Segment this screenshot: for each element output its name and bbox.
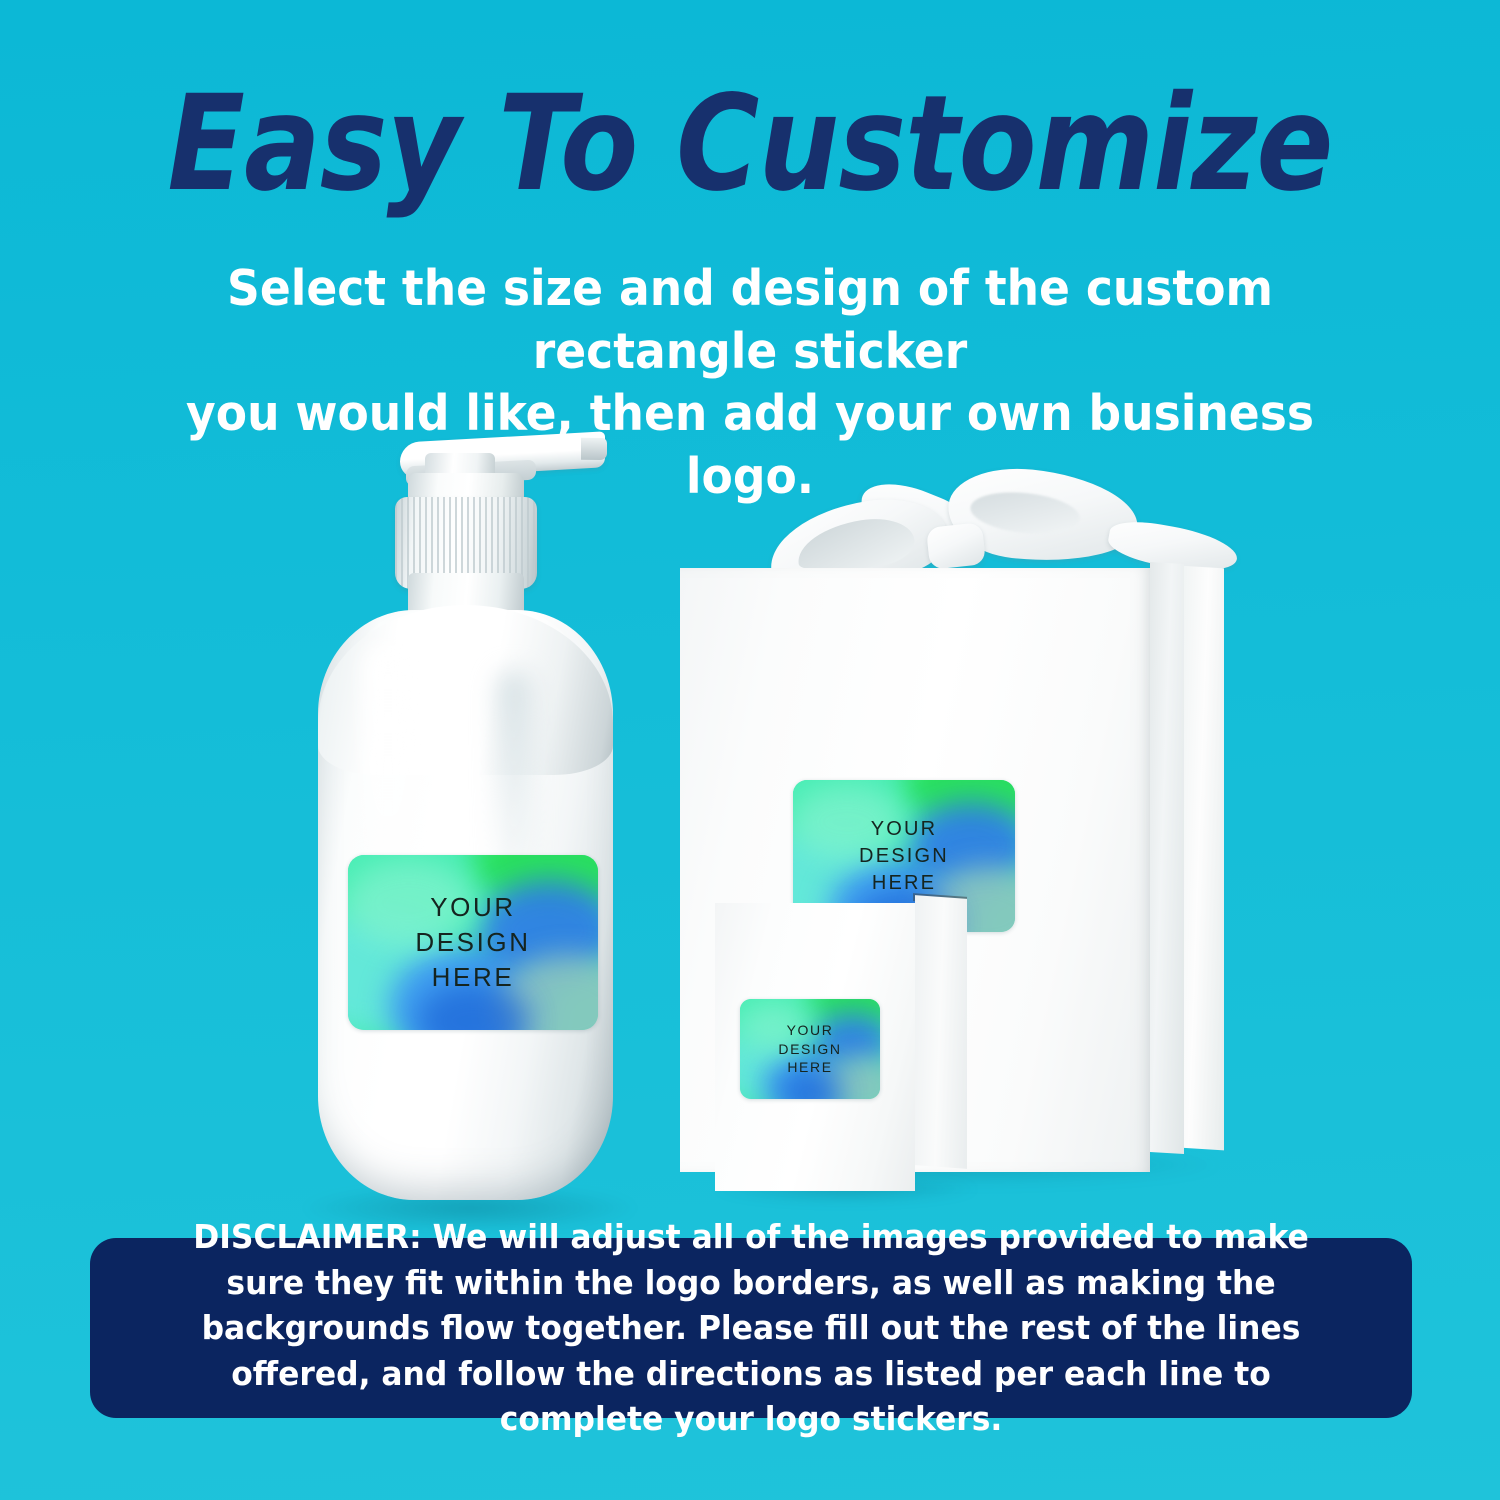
disclaimer-text: DISCLAIMER: We will adjust all of the im…	[165, 1214, 1337, 1442]
sticker-line-3: HERE	[872, 870, 936, 897]
sticker-on-small-box[interactable]: YOUR DESIGN HERE	[740, 999, 880, 1099]
ribbon-knot	[926, 522, 986, 570]
sticker-line-3: HERE	[787, 1058, 832, 1077]
subtitle-line-1: Select the size and design of the custom…	[136, 258, 1364, 383]
page-title: Easy To Customize	[105, 78, 1395, 210]
sticker-text-block: YOUR DESIGN HERE	[740, 999, 880, 1099]
sticker-line-1: YOUR	[430, 890, 516, 925]
sticker-line-1: YOUR	[787, 1021, 834, 1040]
gift-box-side	[1150, 562, 1184, 1154]
sticker-line-2: DESIGN	[778, 1040, 841, 1059]
disclaimer-panel: DISCLAIMER: We will adjust all of the im…	[90, 1238, 1412, 1418]
sticker-on-bottle[interactable]: YOUR DESIGN HERE	[348, 855, 598, 1030]
gift-box-side-back	[1180, 566, 1224, 1151]
sticker-line-2: DESIGN	[859, 843, 949, 870]
small-box-side-face	[915, 895, 967, 1169]
product-mockup-scene: YOUR DESIGN HERE YOUR DESIG	[0, 390, 1500, 1240]
sticker-line-1: YOUR	[871, 816, 938, 843]
sticker-line-3: HERE	[432, 960, 515, 995]
sticker-text-block: YOUR DESIGN HERE	[348, 855, 598, 1030]
sticker-line-2: DESIGN	[415, 925, 530, 960]
small-box-product: YOUR DESIGN HERE	[715, 895, 980, 1195]
pump-bottle-product: YOUR DESIGN HERE	[300, 425, 630, 1225]
bottle-highlight-right	[496, 671, 532, 886]
disclaimer-label: DISCLAIMER:	[193, 1217, 421, 1256]
